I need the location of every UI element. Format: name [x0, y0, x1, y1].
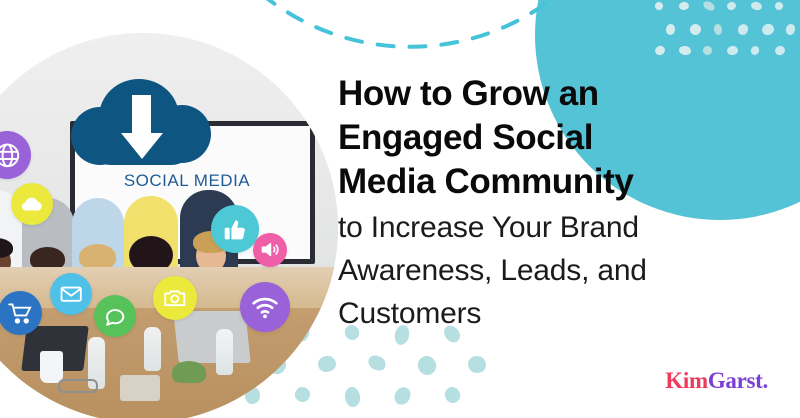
hero-photo-circle: SOCIAL MEDIA	[0, 33, 338, 418]
pencil-cup	[120, 375, 160, 401]
whiteboard-label: SOCIAL MEDIA	[76, 171, 298, 191]
decorative-dot	[414, 353, 438, 378]
decorative-dot	[678, 1, 689, 10]
water-bottle	[144, 327, 161, 371]
water-bottle	[216, 329, 233, 375]
brand-logo[interactable]: KimGarst.	[665, 368, 768, 394]
decorative-dot	[726, 1, 737, 12]
decorative-dot	[392, 384, 414, 407]
decorative-dot	[653, 0, 664, 11]
logo-kim: Kim	[665, 368, 708, 393]
paper-cup	[40, 351, 63, 383]
thumbsup-icon	[211, 205, 259, 253]
decorative-dot	[713, 23, 722, 35]
cloud-download-icon	[71, 77, 211, 169]
speaker-icon	[253, 233, 287, 267]
subhead-line-1: to Increase Your Brand	[338, 211, 639, 244]
decorative-dot	[344, 386, 362, 408]
dot-cluster-top-right	[655, 2, 795, 72]
decorative-dot	[702, 0, 716, 12]
decorative-dot	[736, 22, 750, 36]
laptop-silver	[173, 311, 250, 363]
envelope-icon	[50, 273, 92, 315]
decorative-dot	[365, 353, 388, 374]
decorative-dot	[688, 22, 704, 38]
hero-photo: SOCIAL MEDIA	[0, 33, 338, 418]
subhead-line-3: Customers	[338, 297, 481, 330]
decorative-dot	[785, 23, 796, 36]
decorative-dot	[774, 44, 787, 56]
wifi-icon	[240, 282, 290, 332]
page-title: How to Grow an Engaged Social Media Comm…	[338, 72, 758, 204]
headline-line-1: How to Grow an	[338, 74, 599, 113]
decorative-dot	[653, 44, 666, 57]
decorative-dot	[701, 44, 714, 57]
copy-block: How to Grow an Engaged Social Media Comm…	[338, 72, 758, 335]
decorative-dot	[726, 45, 738, 55]
decorative-dot	[773, 0, 784, 11]
desk-plant	[172, 361, 206, 383]
decorative-dot	[665, 23, 675, 35]
decorative-dot	[760, 22, 775, 37]
banner-canvas: SOCIAL MEDIA	[0, 0, 800, 418]
headline-line-2: Engaged Social	[338, 118, 593, 157]
chat-icon	[94, 295, 136, 337]
decorative-dot	[466, 354, 487, 375]
eyeglasses	[58, 379, 98, 393]
cloud-icon	[11, 183, 53, 225]
headline-line-3: Media Community	[338, 162, 633, 201]
decorative-dot	[750, 1, 763, 11]
decorative-dot	[442, 385, 462, 406]
cart-icon	[0, 291, 42, 335]
decorative-dot	[749, 45, 760, 57]
logo-garst: Garst.	[708, 368, 768, 393]
decorative-dot	[678, 45, 691, 56]
page-subtitle: to Increase Your Brand Awareness, Leads,…	[338, 206, 758, 335]
subhead-line-2: Awareness, Leads, and	[338, 254, 647, 287]
camera-icon	[153, 276, 197, 320]
